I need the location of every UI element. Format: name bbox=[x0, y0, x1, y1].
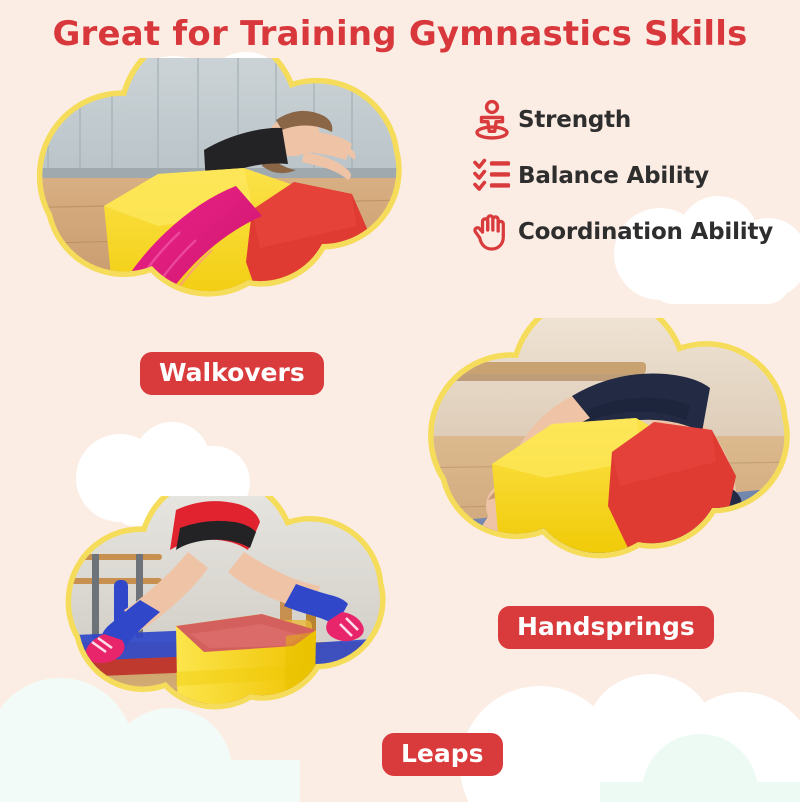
caption-pill-walkovers: Walkovers bbox=[140, 352, 324, 395]
feature-row-balance: Balance Ability bbox=[466, 148, 796, 204]
photo-panel-walkovers bbox=[8, 58, 408, 358]
feature-list: Strength Balance Ability bbox=[466, 92, 796, 260]
feature-label-coordination: Coordination Ability bbox=[518, 219, 773, 245]
caption-pill-handsprings: Handsprings bbox=[498, 606, 714, 649]
feature-row-strength: Strength bbox=[466, 92, 796, 148]
strength-person-icon bbox=[466, 97, 518, 143]
infographic-stage: Great for Training Gymnastics Skills Str… bbox=[0, 0, 800, 800]
open-hand-icon bbox=[466, 209, 518, 255]
page-title: Great for Training Gymnastics Skills bbox=[0, 14, 800, 54]
feature-row-coordination: Coordination Ability bbox=[466, 204, 796, 260]
feature-label-balance: Balance Ability bbox=[518, 163, 709, 189]
caption-pill-leaps: Leaps bbox=[382, 733, 503, 776]
feature-label-strength: Strength bbox=[518, 107, 631, 133]
photo-panel-handsprings bbox=[406, 318, 798, 618]
photo-panel-leaps bbox=[48, 496, 388, 786]
checklist-icon bbox=[466, 153, 518, 199]
